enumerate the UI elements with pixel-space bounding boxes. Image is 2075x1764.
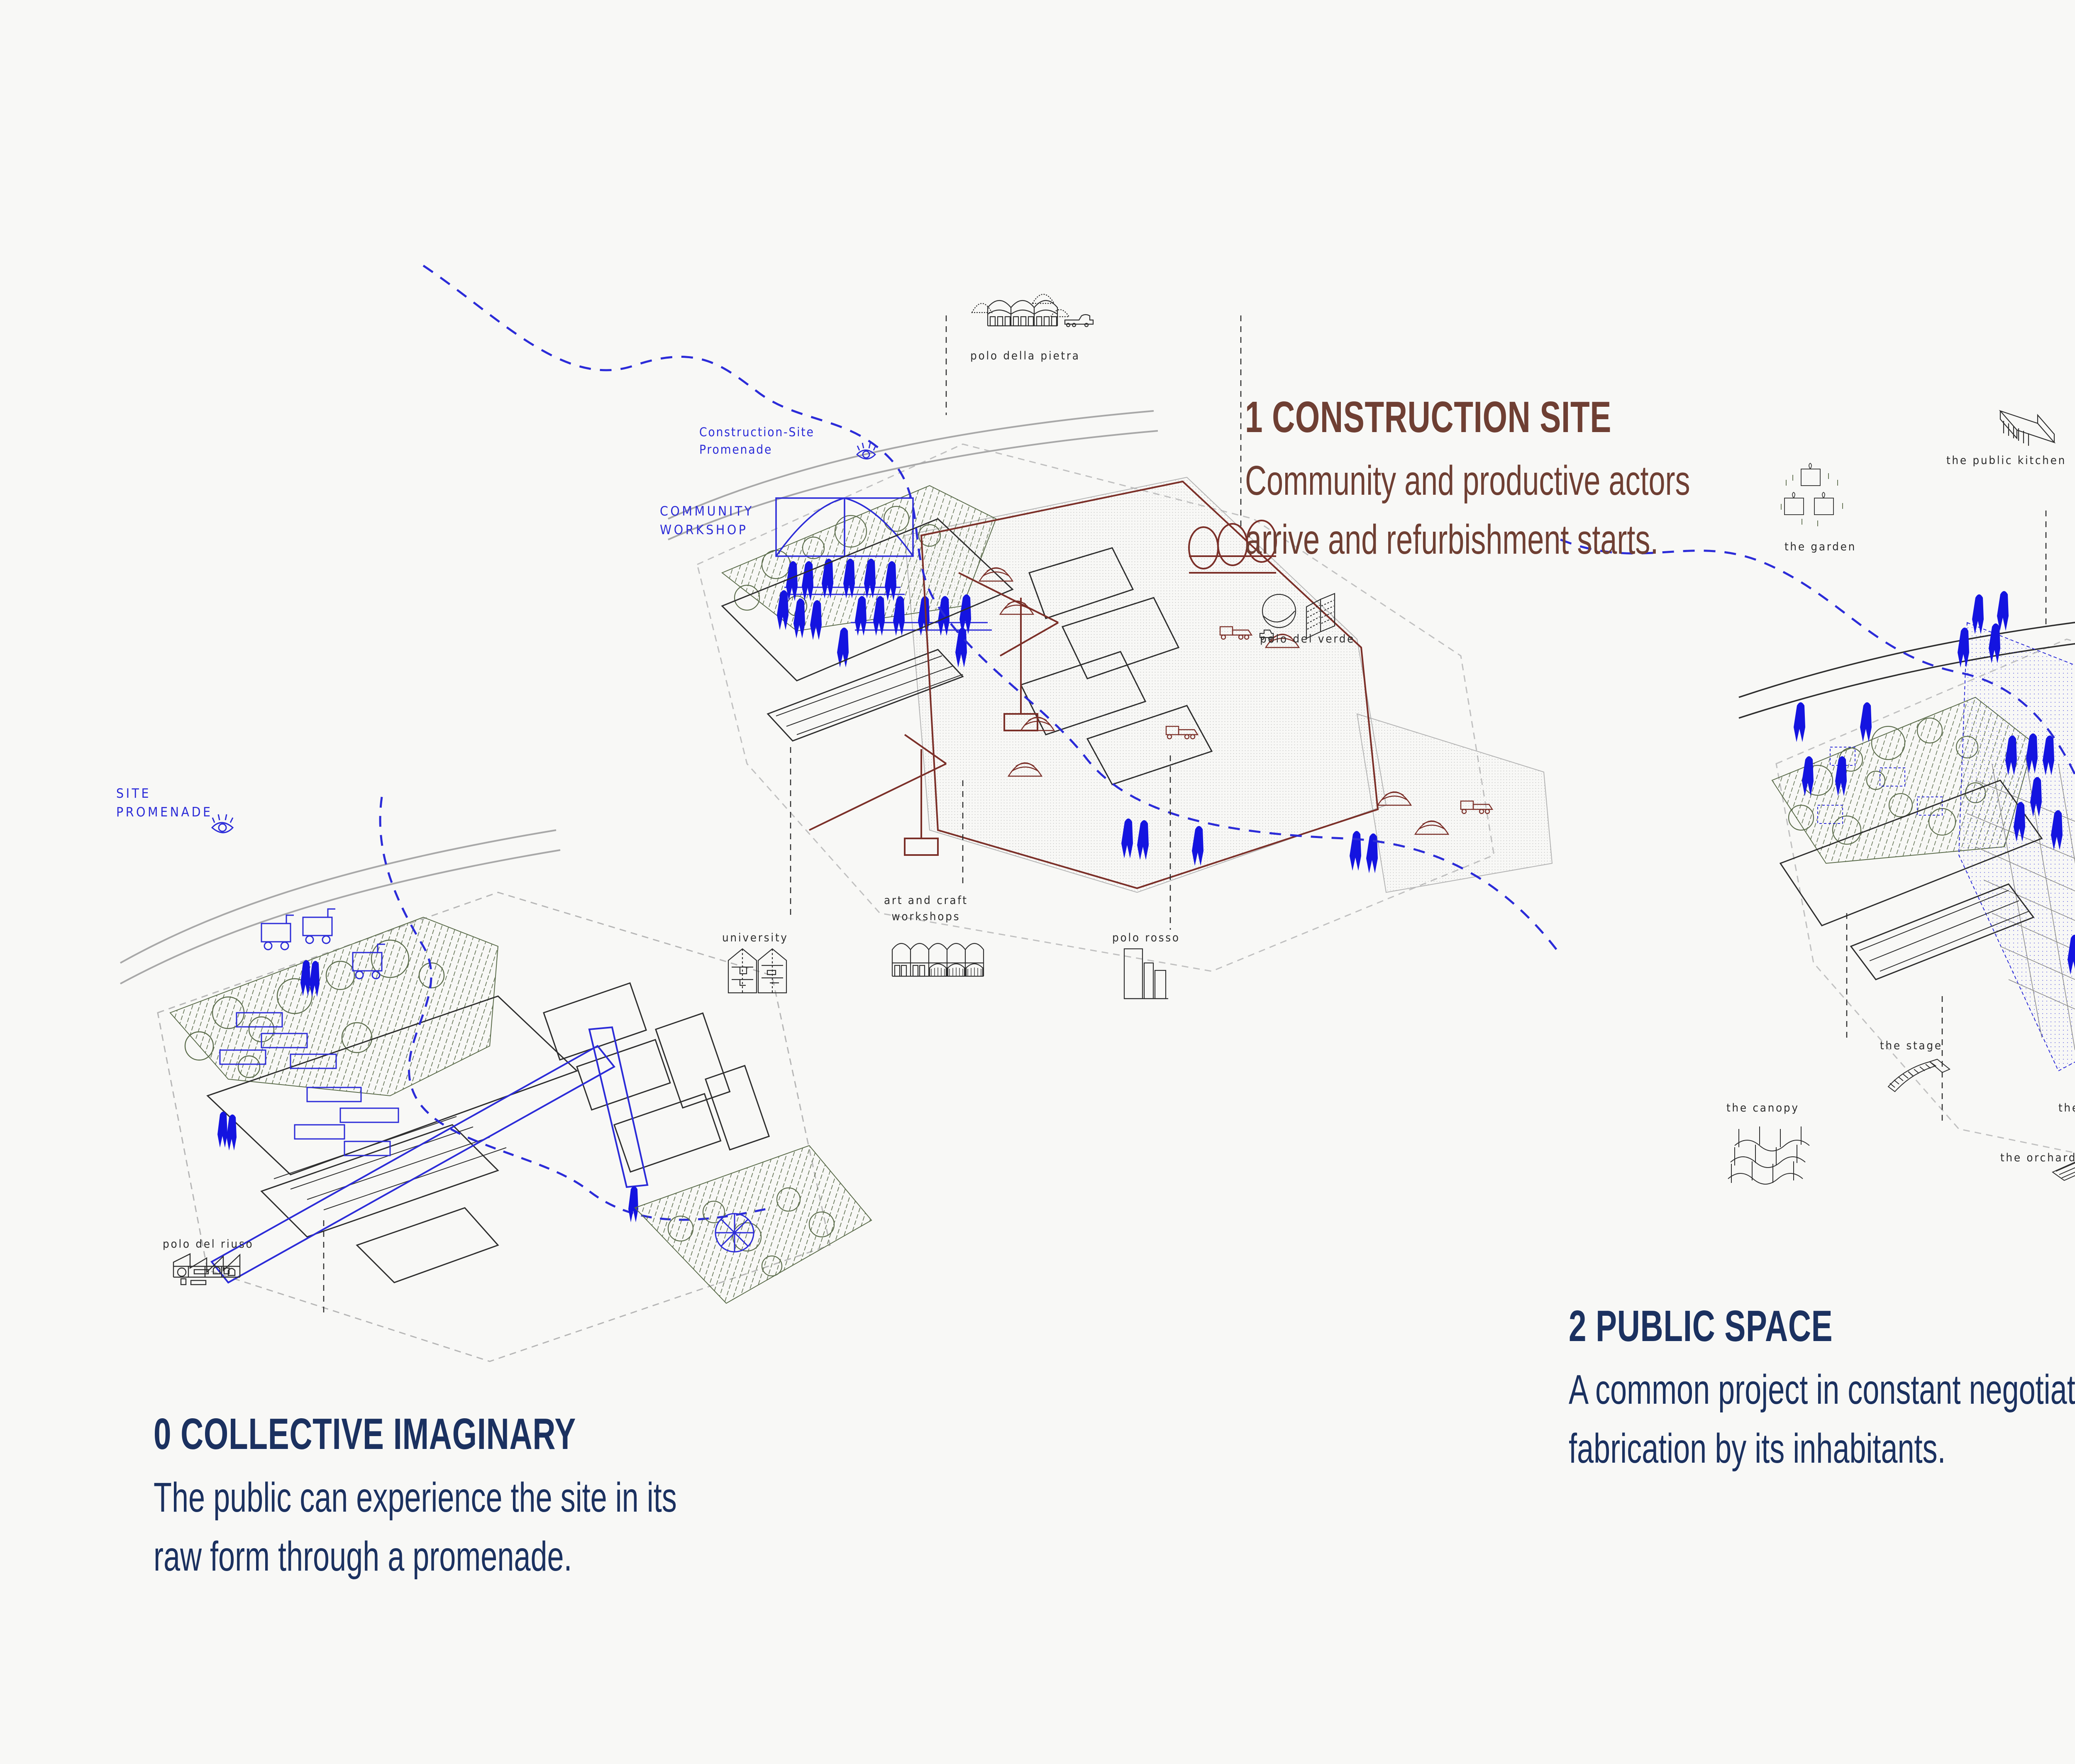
map-label-community-workshop: COMMUNITY WORKSHOP [660,502,754,540]
plan-phase-2: the public kitchen the garden [1743,548,2075,1336]
label-line-1: SITE [116,786,151,801]
phase-2-body-line-2: fabrication by its inhabitants. [1569,1419,2075,1478]
label-line-1: polo del verde [1260,633,1355,645]
eye-icon [210,814,243,838]
label-line-2: WORKSHOP [660,523,748,538]
map-label-art-and-craft-workshops: art and craft workshops [884,892,968,925]
plan-2-drawing [1743,548,2075,1336]
gable-building-icon [724,946,799,1000]
label-line-1: the orchard [2000,1151,2075,1164]
phase-1-heading: 1 CONSTRUCTION SITE [1245,394,1902,440]
map-label-university: university [722,930,788,946]
label-line-2: workshops [891,910,960,923]
map-label-the-orchard: the orchard [2000,1150,2075,1166]
diagram-canvas: SITE PROMENADE polo del riuso [0,0,2075,1764]
map-label-the-stage: the stage [1880,1038,1943,1054]
phase-1-text-block: 1 CONSTRUCTION SITE Community and produc… [1245,394,2075,569]
label-line-1: university [722,931,788,944]
map-label-polo-della-pietra: polo della pietra [970,348,1080,364]
tower-block-icon [1118,946,1181,1004]
label-line-2: Promenade [699,442,772,457]
label-line-1: the canopy [1726,1102,1799,1114]
map-label-site-promenade: SITE PROMENADE [116,784,213,822]
map-label-the-canopy: the canopy [1726,1100,1799,1116]
label-line-1: the sport court [2058,1102,2075,1114]
phase-0-text-block: 0 COLLECTIVE IMAGINARY The public can ex… [154,1411,1067,1586]
phase-1-body-line-1: Community and productive actors [1245,451,2075,510]
label-line-1: the stage [1880,1039,1943,1052]
map-label-polo-rosso: polo rosso [1112,930,1180,946]
sawtooth-shed-icon [170,1251,261,1297]
phase-0-body-line-2: raw form through a promenade. [154,1527,1067,1586]
label-line-1: polo rosso [1112,931,1180,944]
label-line-1: polo della pietra [970,349,1080,362]
phase-2-body-line-1: A common project in constant negotiation… [1569,1360,2075,1419]
phase-2-text-block: 2 PUBLIC SPACE A common project in const… [1569,1303,2075,1478]
phase-0-heading: 0 COLLECTIVE IMAGINARY [154,1411,811,1457]
canopy-grid-icon [1731,1121,1818,1187]
eye-icon [855,442,884,464]
vaulted-hall-icon [963,284,1087,347]
label-line-1: COMMUNITY [660,504,754,519]
map-label-polo-del-riuso: polo del riuso [163,1236,254,1252]
phase-0-body-line-1: The public can experience the site in it… [154,1468,1067,1527]
label-line-2: PROMENADE [116,805,213,820]
curved-stage-icon [1884,1054,1963,1100]
label-line-1: polo del riuso [163,1238,254,1251]
label-line-1: art and craft [884,894,968,907]
map-label-the-sport-court: the sport court [2058,1100,2075,1116]
phase-2-heading: 2 PUBLIC SPACE [1569,1303,2075,1349]
phase-1-body-line-2: arrive and refurbishment starts. [1245,510,2075,569]
map-label-construction-site-promenade: Construction-Site Promenade [699,423,815,458]
label-line-1: Construction-Site [699,425,815,439]
map-label-polo-del-verde: polo del verde [1260,631,1355,647]
arched-hall-icon [888,930,996,984]
